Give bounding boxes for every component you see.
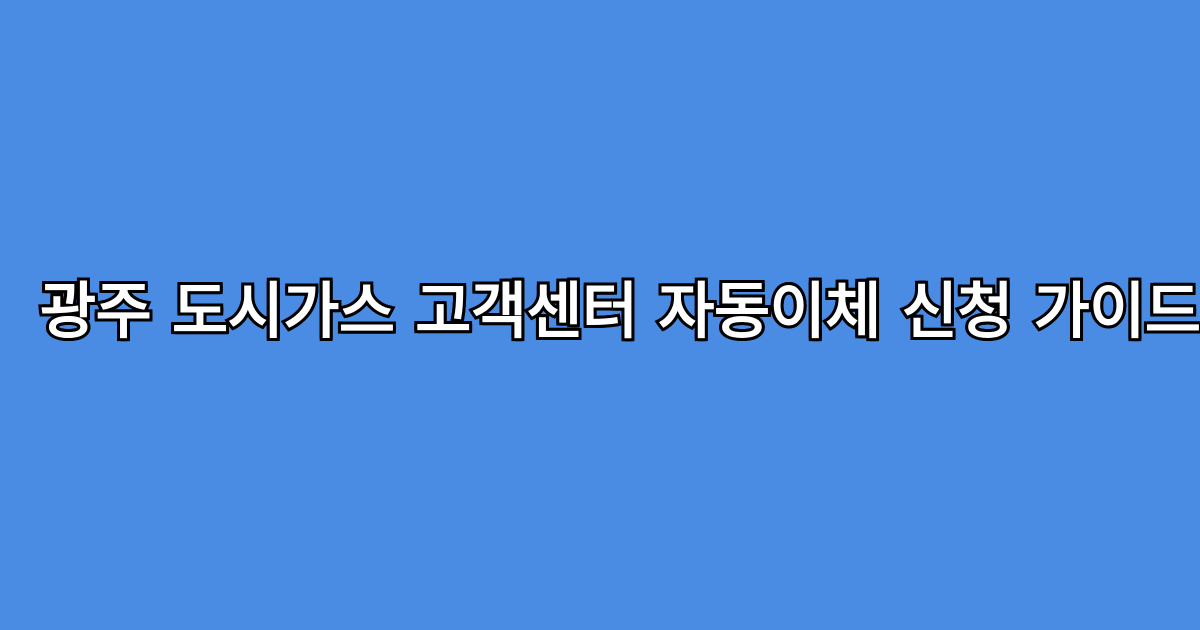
og-banner: 광주 도시가스 고객센터 자동이체 신청 가이드 — [0, 0, 1200, 630]
banner-title-container: 광주 도시가스 고객센터 자동이체 신청 가이드 — [40, 238, 1160, 386]
page-title: 광주 도시가스 고객센터 자동이체 신청 가이드 — [40, 279, 1160, 345]
